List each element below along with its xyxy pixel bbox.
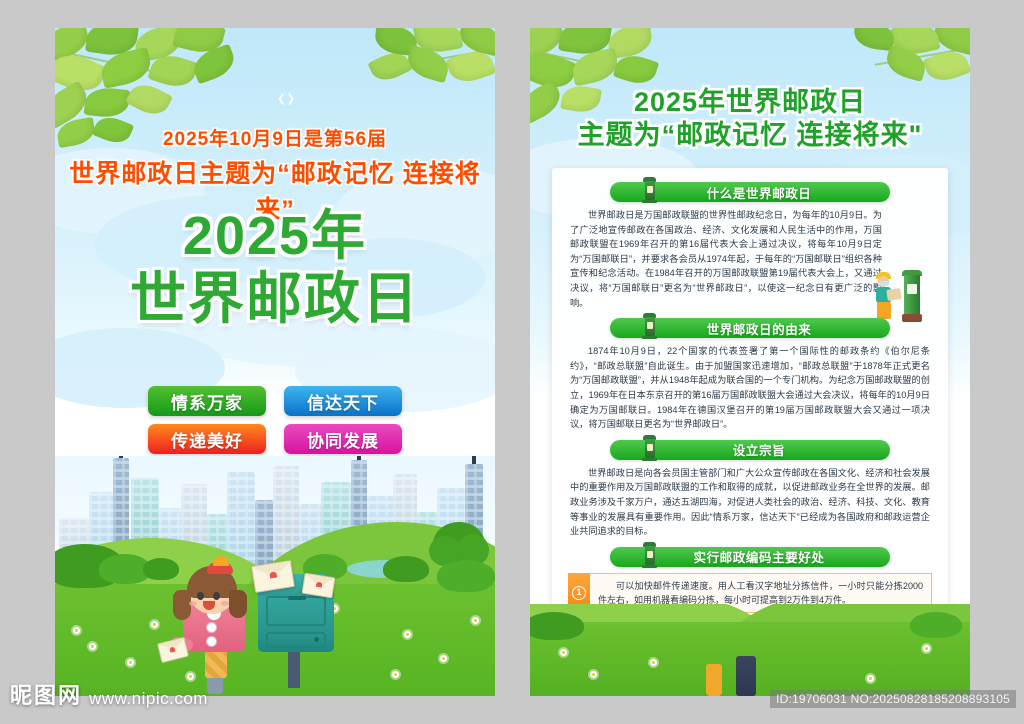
- leaf-icon: [889, 28, 940, 58]
- bird-icon: ❮❯: [277, 94, 295, 105]
- watermark-brand: 昵图网: [10, 678, 82, 710]
- poster-left: ❮❯ ❮❯ ❮❯: [55, 28, 495, 696]
- leaf-icon: [922, 46, 970, 87]
- leaf-icon: [98, 47, 154, 89]
- site-watermark: 昵图网 www.nipic.com: [10, 678, 208, 710]
- section-heading-origin: 世界邮政日的由来: [610, 318, 890, 338]
- leaf-icon: [558, 28, 612, 57]
- section-body-what-is: 世界邮政日是万国邮政联盟的世界性邮政纪念日，为每年的10月9日。为了广泛地宣传邮…: [570, 208, 882, 310]
- right-title-line-1: 2025年世界邮政日: [530, 86, 970, 118]
- content-card: 什么是世界邮政日 世界邮政日是万国邮政联盟的世界性邮政纪念日，为每年的10月9日…: [552, 168, 948, 638]
- postman-boots: [706, 652, 776, 696]
- section-heading-what-is: 什么是世界邮政日: [610, 182, 890, 202]
- tag-xietongfazhan[interactable]: 协同发展: [284, 424, 402, 454]
- leaf-icon: [445, 45, 495, 87]
- postman-figure: [872, 270, 900, 320]
- poster-stage: ❮❯ ❮❯ ❮❯: [0, 0, 1024, 724]
- poster-left-title: 2025年 世界邮政日: [55, 206, 495, 330]
- tag-row-1: 情系万家 信达天下: [55, 386, 495, 416]
- girl-illustration: [163, 558, 273, 694]
- section-heading-label: 什么是世界邮政日: [689, 183, 812, 202]
- leaf-icon: [853, 28, 896, 51]
- poster-left-headline-1: 2025年10月9日是第56届: [55, 124, 495, 151]
- leaf-icon: [85, 28, 139, 58]
- leaf-icon: [147, 50, 198, 92]
- pillar-mailbox-icon: [902, 270, 922, 322]
- section-body-purpose: 世界邮政日是向各会员国主管部门和广大公众宣传邮政在各国文化、经济和社会发展中的重…: [570, 466, 930, 539]
- title-line-1: 2025年: [55, 206, 495, 266]
- leaf-icon: [55, 28, 93, 62]
- section-heading-label: 设立宗旨: [715, 440, 785, 459]
- tag-qingxiwanjia[interactable]: 情系万家: [148, 386, 266, 416]
- mailbox-icon: [642, 435, 657, 461]
- mailbox-icon: [642, 313, 657, 339]
- leaf-icon: [125, 78, 173, 121]
- section-heading-label: 世界邮政日的由来: [689, 319, 812, 338]
- mailbox-icon: [642, 542, 657, 568]
- leaf-icon: [133, 28, 183, 62]
- title-line-2: 世界邮政日: [55, 268, 495, 330]
- leaf-icon: [613, 50, 659, 88]
- section-body-origin: 1874年10月9日，22个国家的代表签署了第一个国际性的邮政条约《伯尔尼条约》…: [570, 344, 930, 432]
- leaf-icon: [84, 86, 131, 119]
- leaf-icon: [456, 28, 495, 57]
- leaf-icon: [883, 45, 929, 82]
- leaf-icon: [931, 28, 970, 56]
- tag-chuandimeihao[interactable]: 传递美好: [148, 424, 266, 454]
- poster-right-bottom-scene: [530, 604, 970, 696]
- tag-xindatianxia[interactable]: 信达天下: [284, 386, 402, 416]
- tag-row-2: 传递美好 协同发展: [55, 424, 495, 454]
- right-title-line-2: 主题为“邮政记忆 连接将来": [530, 118, 970, 152]
- section-heading-purpose: 设立宗旨: [610, 440, 890, 460]
- leaf-icon: [606, 28, 654, 59]
- section-heading-label: 实行邮政编码主要好处: [675, 547, 824, 566]
- watermark-id: ID:19706031 NO:20250828185208893105: [770, 690, 1016, 708]
- leaf-icon: [569, 48, 620, 87]
- mailbox-icon: [642, 177, 657, 203]
- leaf-icon: [530, 28, 568, 60]
- postman-illustration: [872, 256, 924, 322]
- poster-right: 2025年世界邮政日 主题为“邮政记忆 连接将来" 什么是世界邮政日: [530, 28, 970, 696]
- poster-right-title: 2025年世界邮政日 主题为“邮政记忆 连接将来": [530, 86, 970, 152]
- leaf-icon: [413, 28, 464, 56]
- leaf-icon: [367, 47, 412, 86]
- poster-left-illustration: [55, 456, 495, 696]
- leaf-icon: [404, 45, 452, 83]
- leaf-icon: [55, 47, 108, 99]
- leaf-icon: [55, 81, 93, 130]
- leaf-icon: [189, 44, 238, 85]
- watermark-url: www.nipic.com: [89, 689, 208, 710]
- leaf-icon: [374, 28, 419, 56]
- section-heading-benefits: 实行邮政编码主要好处: [610, 547, 890, 567]
- leaf-icon: [172, 28, 226, 57]
